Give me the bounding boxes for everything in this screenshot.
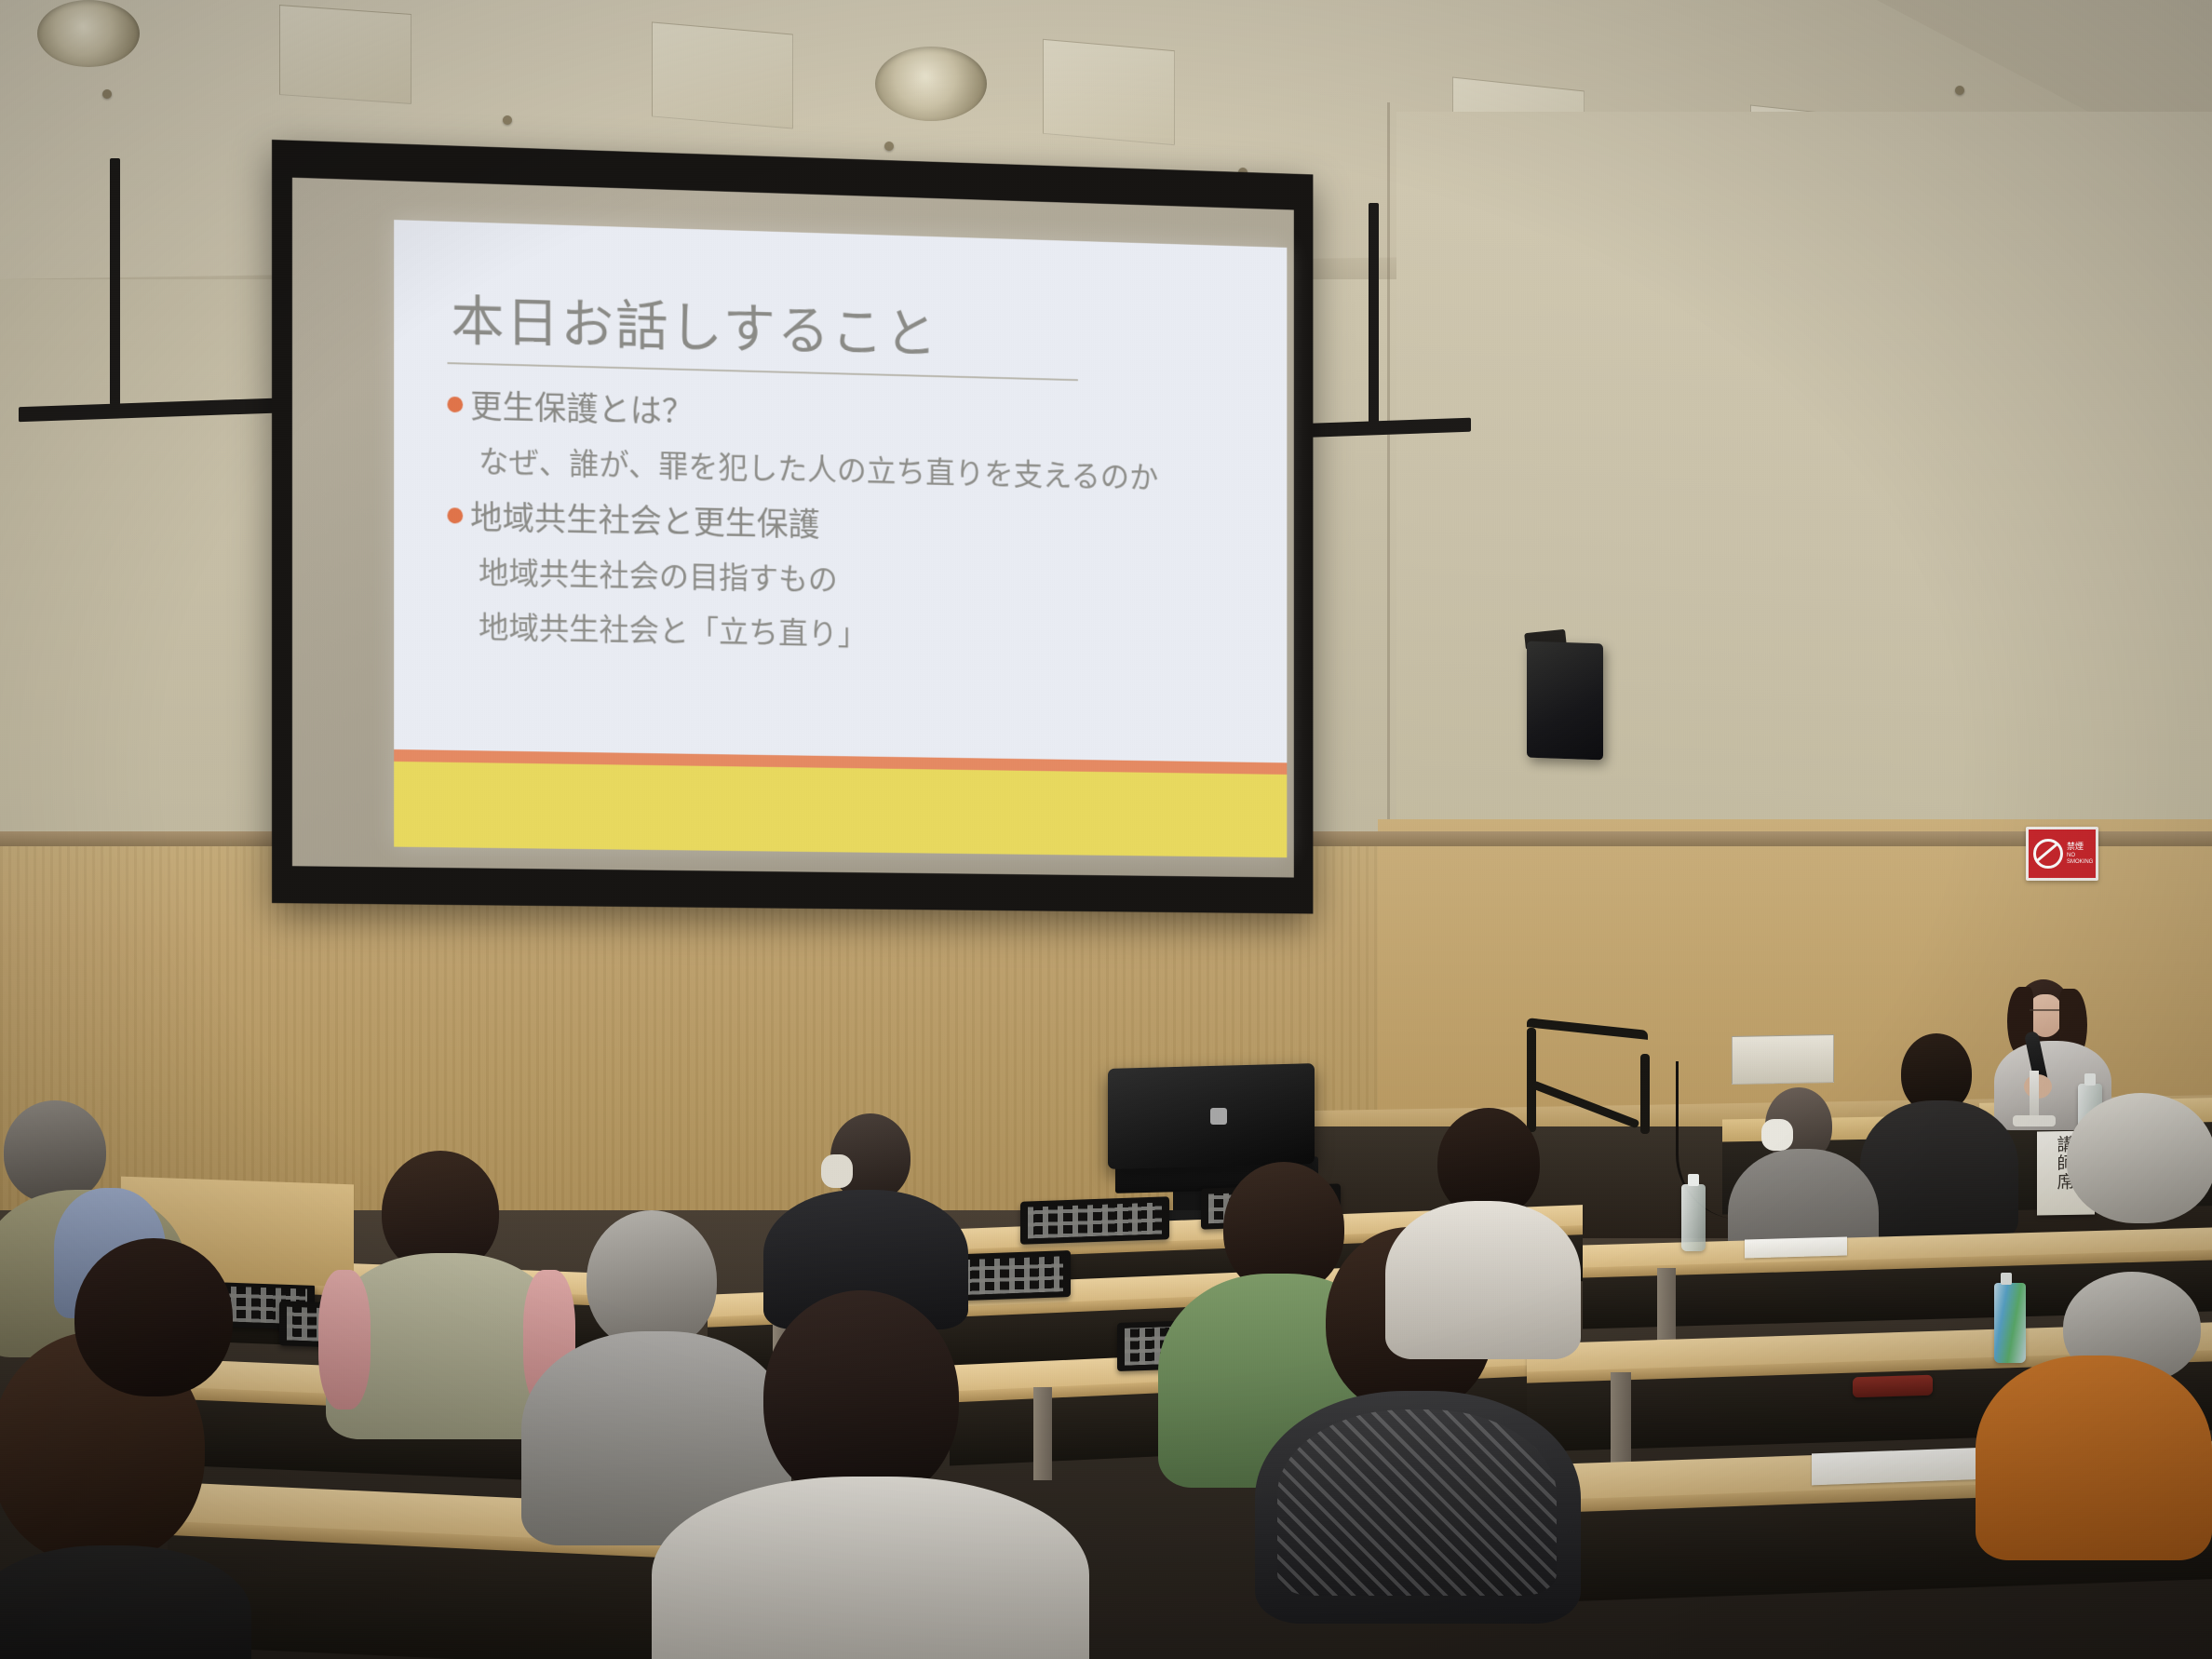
- slide-body: 更生保護とは？ なぜ、誰が、罪を犯した人の立ち直りを支えるのか 地域共生社会と更…: [447, 384, 1271, 675]
- ceiling-downlight: [37, 0, 140, 67]
- torso: [1385, 1201, 1581, 1359]
- screen-mount-arm: [110, 158, 120, 405]
- presenter-glasses-icon: [2030, 1009, 2059, 1018]
- patterned-top: [1277, 1409, 1557, 1596]
- paper-sheet: [1745, 1236, 1847, 1258]
- torso: [0, 1545, 251, 1659]
- torso: [1976, 1356, 2212, 1560]
- audience-member: [1966, 1303, 2212, 1573]
- audience-member: [2030, 1093, 2212, 1307]
- projector-lens-icon: [1210, 1108, 1227, 1125]
- slide-bullet-text: 更生保護とは？: [470, 385, 694, 435]
- ceiling-vent-panel: [279, 5, 411, 104]
- indent-spacer: [447, 552, 479, 553]
- slide-footer-band: [394, 762, 1287, 857]
- projection-screen: 本日お話しすること 更生保護とは？ なぜ、誰が、罪を犯した人の立ち直りを支えるの…: [272, 140, 1313, 914]
- chair: [1020, 1196, 1169, 1245]
- slide-bullet-line: 地域共生社会の目指すもの: [447, 552, 1271, 610]
- no-smoking-icon: [2033, 839, 2063, 869]
- bullet-marker-icon: [447, 397, 463, 412]
- screen-surface: 本日お話しすること 更生保護とは？ なぜ、誰が、罪を犯した人の立ち直りを支えるの…: [292, 178, 1294, 878]
- slide: 本日お話しすること 更生保護とは？ なぜ、誰が、罪を犯した人の立ち直りを支えるの…: [394, 220, 1287, 857]
- head: [763, 1290, 959, 1504]
- face-mask-icon: [821, 1154, 853, 1188]
- indent-spacer: [447, 606, 479, 607]
- pencil-case: [1853, 1375, 1933, 1398]
- no-smoking-text-jp: 禁煙: [2067, 843, 2096, 851]
- sprinkler-head: [1955, 86, 1964, 95]
- slide-bullet-line: 更生保護とは？: [447, 384, 1271, 449]
- audience-member: [56, 1238, 242, 1424]
- slide-bullet-text: 地域共生社会の目指すもの: [479, 553, 838, 601]
- ceiling-vent-panel: [652, 21, 793, 128]
- audience-member: [1860, 1033, 2018, 1220]
- torso: [652, 1477, 1089, 1659]
- head: [74, 1238, 233, 1396]
- audience-member: [763, 1113, 968, 1309]
- desk-leg: [1611, 1372, 1631, 1471]
- slide-bullet-text: 地域共生社会と「立ち直り」: [479, 607, 867, 655]
- slide-bullet-line: なぜ、誰が、罪を犯した人の立ち直りを支えるのか: [447, 441, 1271, 502]
- slide-bullet-line: 地域共生社会と更生保護: [447, 495, 1271, 557]
- face-mask-icon: [1761, 1119, 1793, 1151]
- slide-bullet-text: 地域共生社会と更生保護: [470, 496, 819, 547]
- indent-spacer: [447, 441, 479, 442]
- screen-mount-arm: [1369, 203, 1379, 426]
- audience-member: [1385, 1108, 1581, 1331]
- slide-bullet-text: なぜ、誰が、罪を犯した人の立ち直りを支えるのか: [479, 442, 1158, 499]
- audience-member: [652, 1290, 1089, 1659]
- no-smoking-text-en: NO SMOKING: [2067, 853, 2096, 865]
- slide-bullet-line: 地域共生社会と「立ち直り」: [447, 606, 1271, 662]
- no-smoking-label: 禁煙 NO SMOKING: [2067, 843, 2096, 865]
- sprinkler-head: [884, 142, 894, 151]
- sprinkler-head: [503, 115, 512, 125]
- torso: [1860, 1100, 2018, 1240]
- lecture-hall-photo: 本日お話しすること 更生保護とは？ なぜ、誰が、罪を犯した人の立ち直りを支えるの…: [0, 0, 2212, 1659]
- wall-speaker-icon: [1527, 641, 1603, 761]
- no-smoking-sign: 禁煙 NO SMOKING: [2026, 827, 2098, 881]
- sprinkler-head: [102, 89, 112, 99]
- ceiling-vent-panel: [1043, 39, 1175, 145]
- water-bottle: [1681, 1184, 1706, 1251]
- ceiling-downlight: [875, 47, 987, 121]
- vest-shoulder: [318, 1270, 371, 1409]
- desk-leg: [1657, 1268, 1676, 1348]
- upper-wall-right: [1396, 112, 2212, 884]
- paper-sheet: [1812, 1448, 1989, 1486]
- slide-title-rule: [447, 362, 1077, 381]
- head: [2067, 1093, 2212, 1223]
- slide-title: 本日お話しすること: [451, 277, 938, 369]
- bullet-marker-icon: [447, 507, 463, 523]
- wall-seam: [1387, 102, 1390, 847]
